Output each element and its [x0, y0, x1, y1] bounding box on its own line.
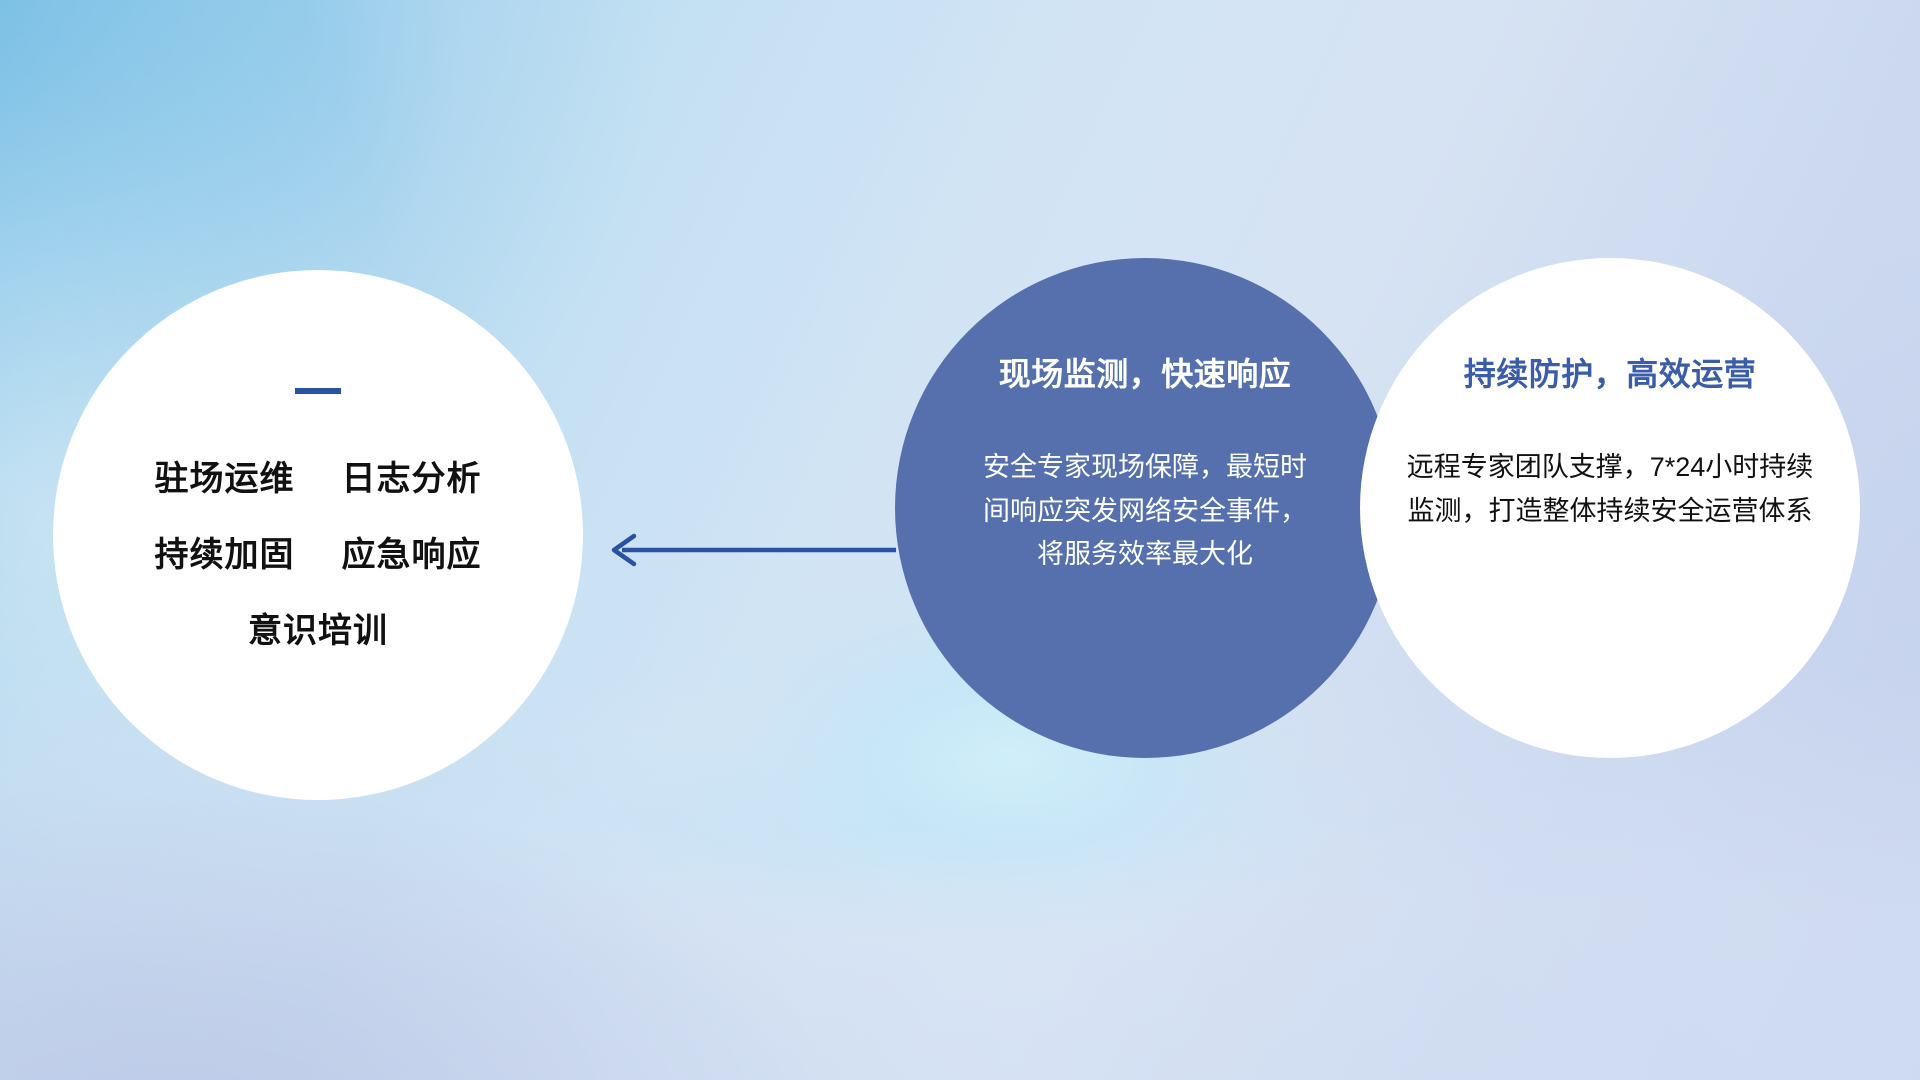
capabilities-content: 驻场运维 日志分析 持续加固 应急响应 意识培训: [53, 270, 583, 800]
flow-arrow-icon: [600, 518, 900, 582]
continuous-protection-body: 远程专家团队支撑，7*24小时持续监测，打造整体持续安全运营体系: [1404, 446, 1816, 533]
divider-dash: [295, 388, 341, 394]
capability-label-awareness-training: 意识培训: [248, 612, 388, 650]
onsite-monitoring-content: 现场监测，快速响应 安全专家现场保障，最短时间响应突发网络安全事件，将服务效率最…: [895, 258, 1395, 758]
capability-row: 意识培训: [248, 614, 388, 648]
capability-label-log-analysis: 日志分析: [341, 460, 481, 498]
capability-label-emergency-response: 应急响应: [341, 536, 481, 574]
continuous-protection-title: 持续防护，高效运营: [1464, 358, 1757, 390]
capability-row: 持续加固 应急响应: [155, 538, 482, 572]
onsite-monitoring-title: 现场监测，快速响应: [999, 358, 1292, 390]
slide-canvas: 驻场运维 日志分析 持续加固 应急响应 意识培训 现场监测，快速响应 安全专家现…: [0, 0, 1920, 1080]
capability-label-continuous-hardening: 持续加固: [155, 536, 295, 574]
continuous-protection-content: 持续防护，高效运营 远程专家团队支撑，7*24小时持续监测，打造整体持续安全运营…: [1360, 258, 1860, 758]
onsite-monitoring-body: 安全专家现场保障，最短时间响应突发网络安全事件，将服务效率最大化: [980, 446, 1310, 577]
capability-label-onsite-ops: 驻场运维: [155, 460, 295, 498]
capability-row: 驻场运维 日志分析: [155, 462, 482, 496]
